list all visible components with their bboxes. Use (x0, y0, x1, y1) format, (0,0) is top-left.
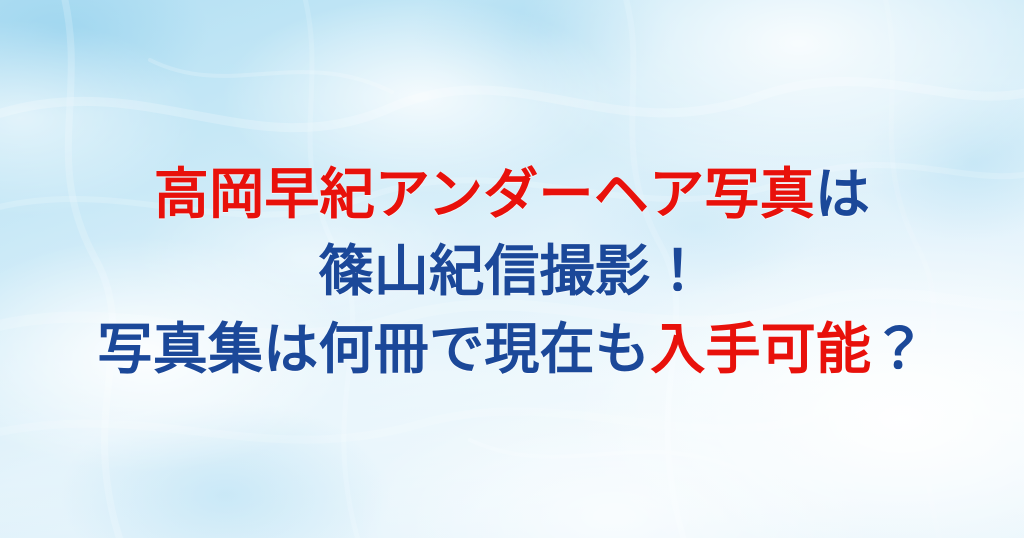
headline-line-3-segment-1: 写真集は何冊で現在も (97, 317, 650, 381)
headline-line-2-segment-1: 篠山紀信撮影！ (319, 239, 706, 303)
headline-line-3-segment-3: ？ (871, 317, 926, 381)
headline-line-2: 篠山紀信撮影！ (319, 235, 706, 308)
headline-line-1: 高岡早紀アンダーヘア写真は (154, 158, 870, 231)
headline-line-1-segment-2: は (815, 162, 870, 226)
eyecatch-banner: 高岡早紀アンダーヘア写真は 篠山紀信撮影！ 写真集は何冊で現在も入手可能？ (0, 0, 1024, 538)
headline-line-3-segment-2: 入手可能 (650, 317, 871, 381)
headline-line-1-segment-1: 高岡早紀アンダーヘア写真 (154, 162, 815, 226)
headline-block: 高岡早紀アンダーヘア写真は 篠山紀信撮影！ 写真集は何冊で現在も入手可能？ (0, 0, 1024, 538)
headline-line-3: 写真集は何冊で現在も入手可能？ (97, 313, 926, 386)
